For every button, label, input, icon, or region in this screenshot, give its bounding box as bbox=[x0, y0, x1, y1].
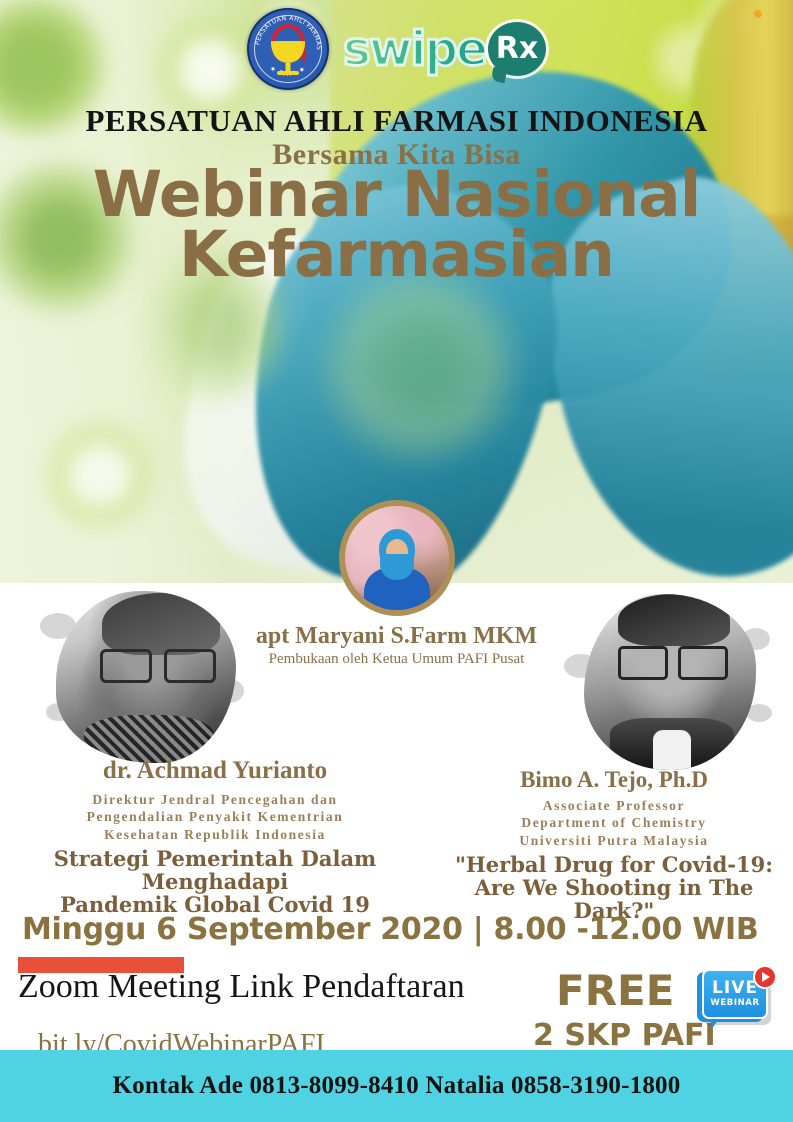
speaker-left-affiliation: Direktur Jendral Pencegahan dan Pengenda… bbox=[0, 791, 430, 843]
affiliation-line: Universiti Putra Malaysia bbox=[435, 832, 793, 849]
swipe-rx-logo: swipe Rx bbox=[343, 22, 546, 77]
speaker-center-role: Pembukaan oleh Ketua Umum PAFI Pusat bbox=[0, 651, 793, 668]
pafi-bowl-base bbox=[277, 71, 299, 75]
rx-label: Rx bbox=[496, 34, 538, 64]
speaker-right-portrait bbox=[584, 594, 756, 770]
topic-line: Strategi Pemerintah Dalam Menghadapi bbox=[0, 847, 430, 893]
speaker-left-portrait bbox=[56, 591, 236, 763]
speaker-right-name: Bimo A. Tejo, Ph.D bbox=[435, 767, 793, 793]
speaker-photo-right bbox=[560, 588, 775, 773]
organization-title: PERSATUAN AHLI FARMASI INDONESIA bbox=[0, 103, 793, 139]
headline-line-2: Kefarmasian bbox=[0, 225, 793, 285]
contact-text: Kontak Ade 0813-8099-8410 Natalia 0858-3… bbox=[113, 1072, 681, 1100]
affiliation-line: Pengendalian Penyakit Kementrian bbox=[0, 808, 430, 825]
registration-label: Zoom Meeting Link Pendaftaran bbox=[18, 968, 465, 1006]
portrait-batik-shirt bbox=[84, 715, 214, 763]
speaker-left-details: dr. Achmad Yurianto Direktur Jendral Pen… bbox=[0, 757, 430, 916]
play-button-icon bbox=[753, 965, 777, 989]
portrait-shirt bbox=[653, 730, 691, 770]
contact-footer: Kontak Ade 0813-8099-8410 Natalia 0858-3… bbox=[0, 1050, 793, 1122]
affiliation-line: Associate Professor bbox=[435, 797, 793, 814]
rx-speech-bubble-icon: Rx bbox=[488, 22, 546, 76]
affiliation-line: Direktur Jendral Pencegahan dan bbox=[0, 791, 430, 808]
speaker-left-name: dr. Achmad Yurianto bbox=[0, 757, 430, 785]
badge-live-label: LIVE bbox=[712, 980, 758, 997]
affiliation-line: Kesehatan Republik Indonesia bbox=[0, 826, 430, 843]
speaker-right-details: Bimo A. Tejo, Ph.D Associate Professor D… bbox=[435, 767, 793, 922]
live-webinar-badge-icon: LIVE WEBINAR bbox=[697, 969, 775, 1035]
badge-webinar-label: WEBINAR bbox=[710, 999, 759, 1008]
topic-line: "Herbal Drug for Covid-19: bbox=[435, 853, 793, 876]
credits-badge: 2 SKP PAFI bbox=[533, 1018, 716, 1053]
webinar-poster: PERSATUAN AHLI FARMASI INDONESIA ★ PAFI … bbox=[0, 0, 793, 1122]
pafi-logo-icon: PERSATUAN AHLI FARMASI INDONESIA ★ PAFI … bbox=[247, 8, 329, 90]
speaker-left-topic: Strategi Pemerintah Dalam Menghadapi Pan… bbox=[0, 847, 430, 916]
swipe-i-dot-icon bbox=[754, 10, 762, 18]
virus-blob-graphic bbox=[40, 415, 160, 535]
page-title: Webinar Nasional Kefarmasian bbox=[0, 165, 793, 285]
logo-bar: PERSATUAN AHLI FARMASI INDONESIA ★ PAFI … bbox=[0, 8, 793, 90]
speaker-center-name: apt Maryani S.Farm MKM bbox=[0, 623, 793, 650]
speaker-right-affiliation: Associate Professor Department of Chemis… bbox=[435, 797, 793, 849]
portrait-suit bbox=[610, 718, 734, 770]
speaker-photo-left bbox=[38, 583, 253, 768]
affiliation-line: Department of Chemistry bbox=[435, 814, 793, 831]
event-datetime: Minggu 6 September 2020 | 8.00 -12.00 WI… bbox=[22, 912, 758, 947]
swipe-wordmark: swipe bbox=[343, 22, 486, 77]
speaker-photo-center bbox=[339, 500, 455, 616]
price-badge: FREE bbox=[556, 966, 674, 1015]
